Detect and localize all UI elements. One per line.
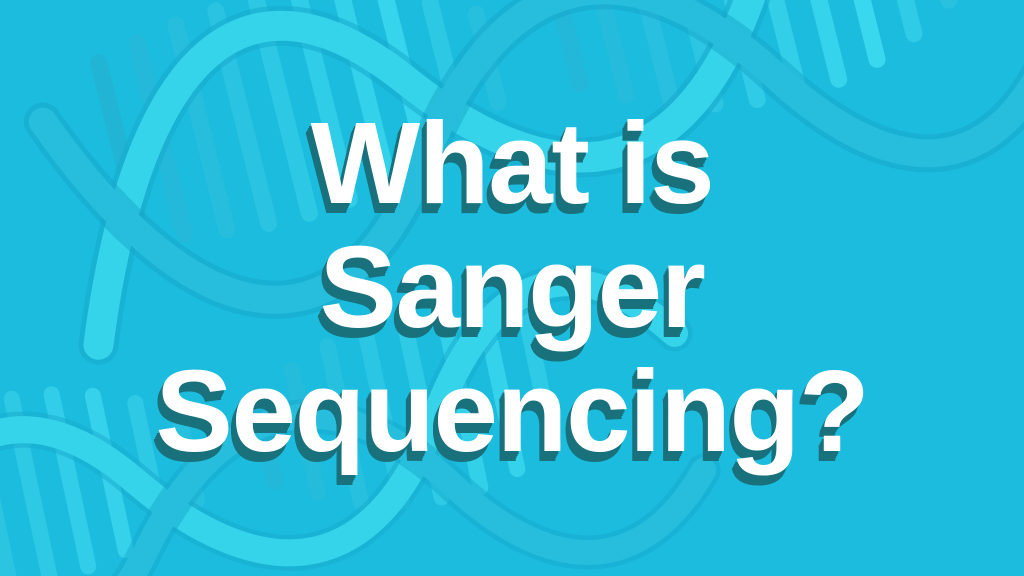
title-line-2: Sanger xyxy=(320,231,705,345)
page-title: What is Sanger Sequencing? xyxy=(0,0,1024,576)
title-slide: What is Sanger Sequencing? xyxy=(0,0,1024,576)
title-line-3: Sequencing? xyxy=(156,355,869,469)
title-line-1: What is xyxy=(311,107,714,221)
